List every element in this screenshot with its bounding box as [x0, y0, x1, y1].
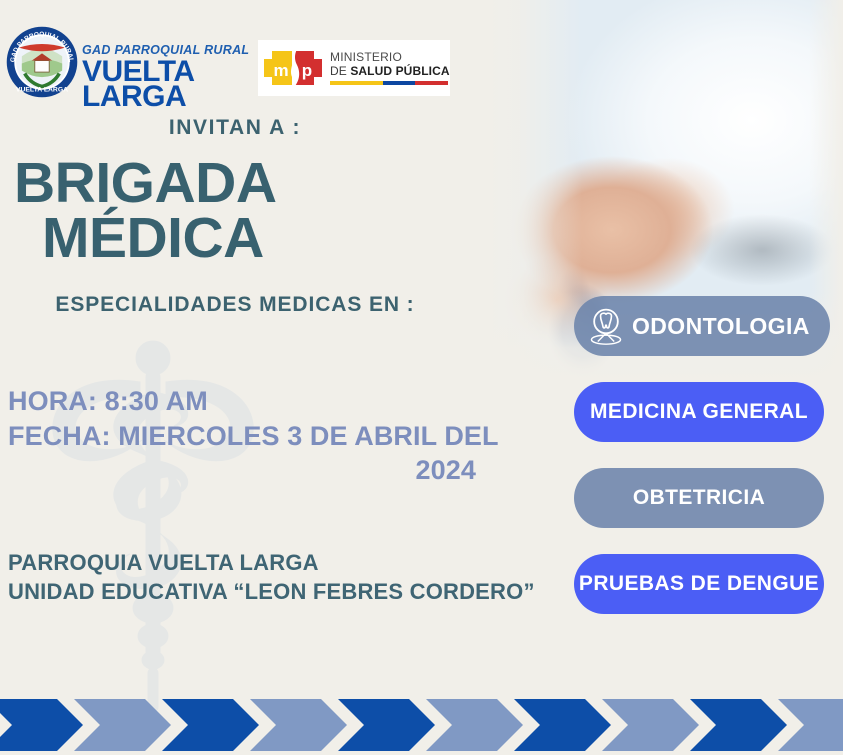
event-date: FECHA: MIERCOLES 3 DE ABRIL DEL	[8, 419, 518, 454]
specialty-label: PRUEBAS DE DENGUE	[579, 572, 819, 596]
chevron	[162, 699, 259, 751]
chevron	[426, 699, 523, 751]
specialty-label: MEDICINA GENERAL	[590, 400, 808, 424]
chevron	[338, 699, 435, 751]
crest-bottom-text: VUELTA LARGA	[16, 87, 68, 94]
msp-line2-prefix: DE	[330, 64, 350, 78]
event-schedule: HORA: 8:30 AM FECHA: MIERCOLES 3 DE ABRI…	[8, 384, 518, 488]
msp-letter-m: m	[273, 61, 288, 80]
event-time: HORA: 8:30 AM	[8, 386, 208, 416]
chevron	[778, 699, 843, 751]
caduceus-watermark	[38, 320, 268, 720]
gad-name-line2: LARGA	[82, 84, 262, 110]
msp-line1: MINISTERIO	[330, 51, 450, 64]
msp-line2-bold: SALUD PÚBLICA	[350, 64, 449, 78]
especialidades-label: ESPECIALIDADES MEDICAS EN :	[0, 293, 470, 317]
invitan-label: INVITAN A :	[0, 116, 470, 140]
specialty-label: ODONTOLOGIA	[632, 313, 810, 340]
specialty-label: OBTETRICIA	[633, 486, 765, 510]
chevron	[602, 699, 699, 751]
location-line1: PARROQUIA VUELTA LARGA	[8, 548, 568, 577]
page-title: BRIGADA MÉDICA	[14, 156, 474, 265]
chevron	[514, 699, 611, 751]
location-line2: UNIDAD EDUCATIVA “LEON FEBRES CORDERO”	[8, 577, 568, 606]
chevron	[74, 699, 171, 751]
logo-row: VUELTA LARGA GAD PARROQUIAL RURAL GAD PA…	[0, 14, 470, 104]
chevron-band	[0, 683, 843, 755]
title-line2: MÉDICA	[14, 211, 474, 266]
specialty-pill-medicina-general[interactable]: MEDICINA GENERAL	[574, 382, 824, 442]
chevron	[250, 699, 347, 751]
event-location: PARROQUIA VUELTA LARGA UNIDAD EDUCATIVA …	[8, 548, 568, 606]
ecuador-flag-bar	[330, 81, 448, 85]
specialty-pill-pruebas-de-dengue[interactable]: PRUEBAS DE DENGUE	[574, 554, 824, 614]
specialty-pill-obtetricia[interactable]: OBTETRICIA	[574, 468, 824, 528]
chevron	[690, 699, 787, 751]
chevron	[0, 699, 83, 751]
msp-letter-p: p	[302, 61, 312, 80]
specialties-list: ODONTOLOGIA MEDICINA GENERAL OBTETRICIA …	[574, 296, 830, 640]
specialty-pill-odontologia[interactable]: ODONTOLOGIA	[574, 296, 830, 356]
msp-cross-icon: m p	[262, 45, 324, 91]
municipal-crest-icon: VUELTA LARGA GAD PARROQUIAL RURAL	[6, 26, 78, 98]
poster: VUELTA LARGA GAD PARROQUIAL RURAL GAD PA…	[0, 0, 843, 755]
gad-wordmark: GAD PARROQUIAL RURAL VUELTA LARGA	[82, 44, 262, 110]
event-year: 2024	[8, 453, 518, 488]
msp-logo: m p MINISTERIO DE SALUD PÚBLICA	[258, 40, 450, 96]
tooth-pin-icon	[586, 306, 626, 346]
